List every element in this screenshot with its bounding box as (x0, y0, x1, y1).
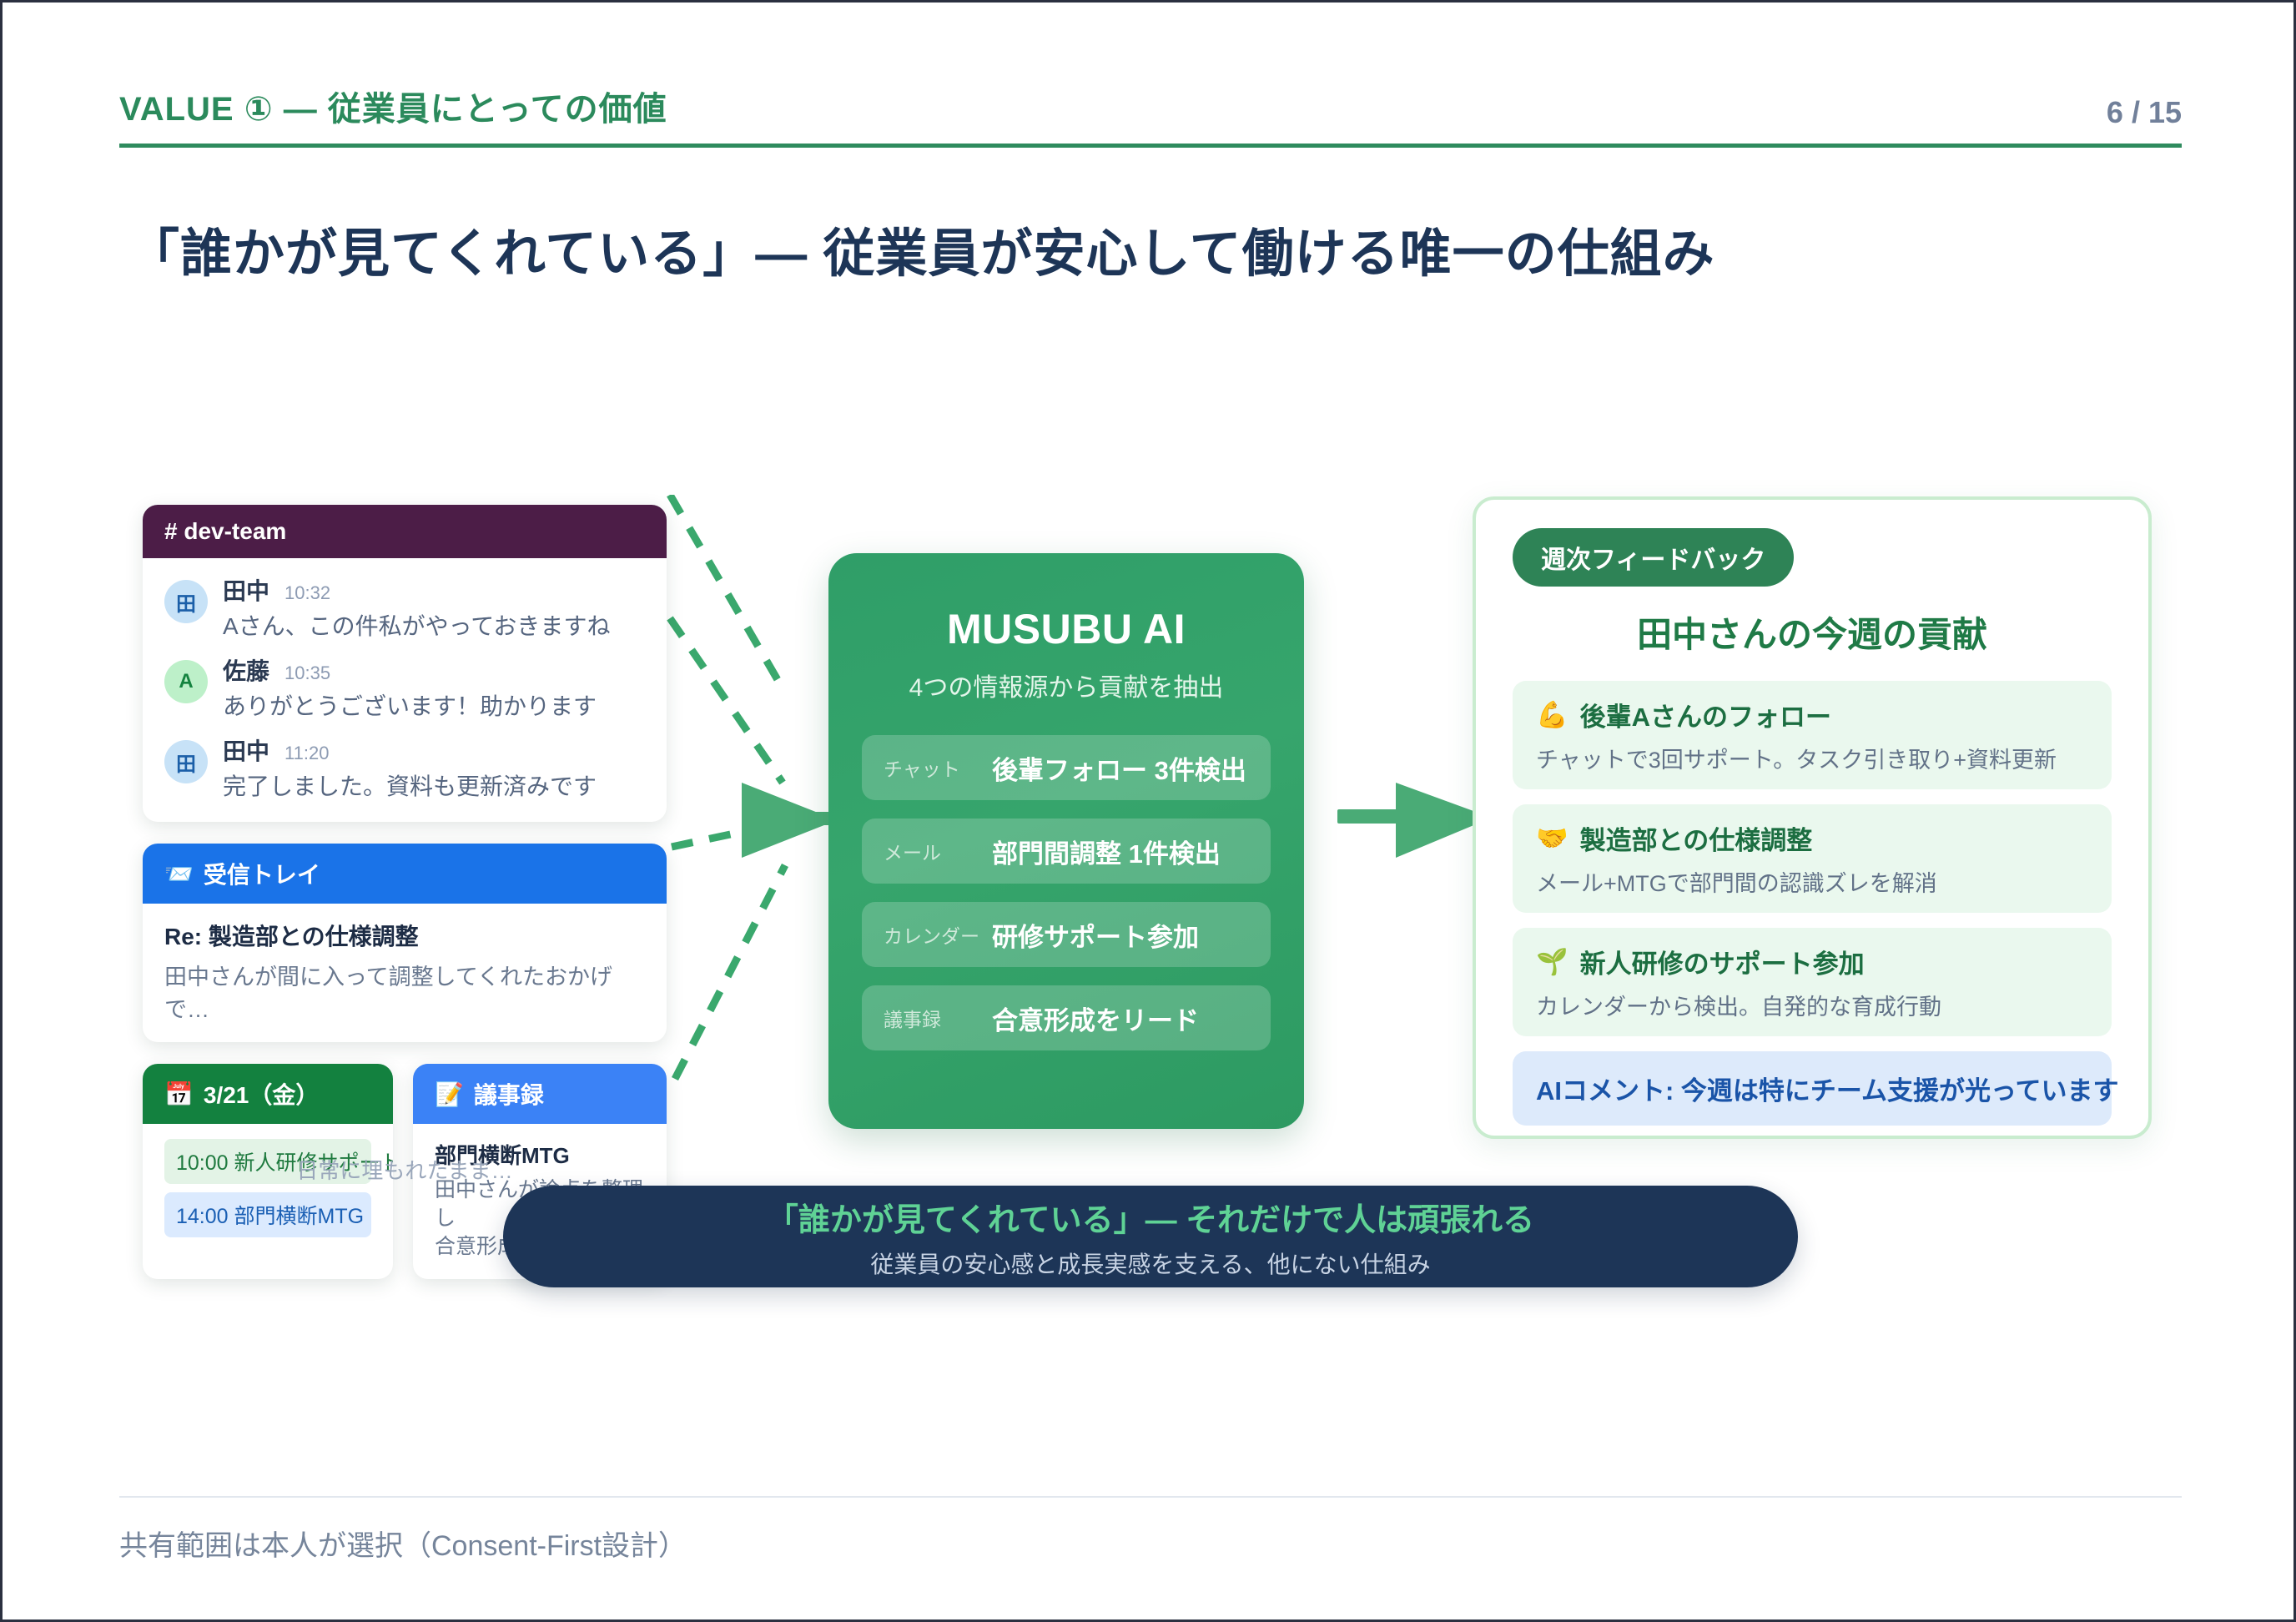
chat-timestamp: 11:20 (284, 743, 329, 764)
engine-row-label: メール (884, 837, 992, 865)
calendar-card-header: 📅 3/21（金） (143, 1064, 393, 1124)
contribution-description: チャットで3回サポート。タスク引き取り+資料更新 (1536, 742, 2088, 774)
memo-icon: 📝 (435, 1080, 464, 1108)
page-indicator: 6 / 15 (2107, 95, 2182, 130)
engine-row-value: 研修サポート参加 (992, 916, 1199, 954)
chat-channel-label: # dev-team (164, 518, 286, 545)
chat-body: ありがとうございます！助かります (223, 688, 597, 722)
engine-subtitle: 4つの情報源から貢献を抽出 (862, 667, 1271, 703)
footer-note: 共有範囲は本人が選択（Consent-First設計） (119, 1523, 687, 1564)
calendar-event-time: 14:00 (176, 1205, 229, 1228)
calendar-event-list: 10:00 新人研修サポート 14:00 部門横断MTG (143, 1124, 393, 1264)
mail-subject: Re: 製造部との仕様調整 (164, 919, 645, 952)
buried-note: 日常に埋もれたまま… (143, 1154, 667, 1185)
contribution-title: 後輩Aさんのフォロー (1580, 696, 1831, 733)
engine-title: MUSUBU AI (862, 605, 1271, 653)
engine-row-label: 議事録 (884, 1004, 992, 1032)
chat-author: 田中 (223, 573, 269, 607)
minutes-card-title: 議事録 (474, 1077, 544, 1111)
slide-root: VALUE ① ― 従業員にとっての価値 6 / 15 「誰かが見てくれている」… (0, 0, 2296, 1622)
calendar-date-label: 3/21（金） (204, 1077, 320, 1111)
mail-source-card[interactable]: 📨 受信トレイ Re: 製造部との仕様調整 田中さんが間に入って調整してくれたお… (143, 844, 667, 1042)
calendar-event: 14:00 部門横断MTG (164, 1192, 371, 1237)
chat-message-list: 田 田中 10:32 Aさん、この件私がやっておきますね A (143, 558, 667, 822)
handshake-icon: 🤝 (1536, 823, 1568, 854)
minutes-card-header: 📝 議事録 (413, 1064, 667, 1124)
avatar: 田 (164, 580, 208, 623)
header-eyebrow: VALUE ① ― 従業員にとっての価値 (119, 82, 667, 130)
engine-row-value: 部門間調整 1件検出 (992, 833, 1221, 870)
footer-divider (119, 1496, 2182, 1498)
diagram-stage: # dev-team 田 田中 10:32 Aさん、この件私がやっておきますね (3, 495, 2296, 1187)
chat-author: 佐藤 (223, 653, 269, 687)
ai-comment: AIコメント: 今週は特にチーム支援が光っています (1513, 1051, 2112, 1126)
mail-card-body: Re: 製造部との仕様調整 田中さんが間に入って調整してくれたおかげで… (143, 904, 667, 1042)
engine-row: メール 部門間調整 1件検出 (862, 819, 1271, 884)
chat-message: 田 田中 11:20 完了しました。資料も更新済みです (164, 733, 645, 802)
contribution-description: メール+MTGで部門間の認識ズレを解消 (1536, 865, 2088, 898)
contribution-heading: 🌱 新人研修のサポート参加 (1536, 943, 2088, 980)
contribution-item: 💪 後輩Aさんのフォロー チャットで3回サポート。タスク引き取り+資料更新 (1513, 681, 2112, 789)
contribution-heading: 🤝 製造部との仕様調整 (1536, 819, 2088, 857)
contribution-item: 🌱 新人研修のサポート参加 カレンダーから検出。自発的な育成行動 (1513, 928, 2112, 1036)
status-badge: 週次フィードバック (1513, 528, 1794, 587)
weekly-feedback-panel: 週次フィードバック 田中さんの今週の貢献 💪 後輩Aさんのフォロー チャットで3… (1473, 496, 2152, 1139)
contribution-heading: 💪 後輩Aさんのフォロー (1536, 696, 2088, 733)
mail-snippet: 田中さんが間に入って調整してくれたおかげで… (164, 959, 645, 1024)
arrow-to-feedback (1337, 783, 1492, 858)
contribution-description: カレンダーから検出。自発的な育成行動 (1536, 989, 2088, 1021)
engine-row-value: 後輩フォロー 3件検出 (992, 749, 1246, 787)
mail-card-header: 📨 受信トレイ (143, 844, 667, 904)
banner-subtext: 従業員の安心感と成長実感を支える、他にない仕組み (870, 1247, 1430, 1280)
engine-row-value: 合意形成をリード (992, 1000, 1199, 1037)
banner-headline: 「誰かが見てくれている」― それだけで人は頑張れる (767, 1194, 1534, 1240)
incoming-envelope-icon: 📨 (164, 860, 194, 888)
chat-body: Aさん、この件私がやっておきますね (223, 608, 610, 642)
contribution-item: 🤝 製造部との仕様調整 メール+MTGで部門間の認識ズレを解消 (1513, 804, 2112, 913)
chat-message-meta: 佐藤 10:35 (223, 653, 597, 687)
avatar: 田 (164, 740, 208, 783)
page-title: 「誰かが見てくれている」― 従業員が安心して働ける唯一の仕組み (128, 211, 1715, 286)
chat-message-meta: 田中 10:32 (223, 573, 610, 607)
chat-timestamp: 10:35 (284, 662, 330, 684)
chat-message: 田 田中 10:32 Aさん、この件私がやっておきますね (164, 573, 645, 642)
musubu-ai-panel: MUSUBU AI 4つの情報源から貢献を抽出 チャット 後輩フォロー 3件検出… (828, 553, 1304, 1129)
chat-source-card[interactable]: # dev-team 田 田中 10:32 Aさん、この件私がやっておきますね (143, 505, 667, 822)
chat-author: 田中 (223, 733, 269, 767)
engine-row-label: チャット (884, 753, 992, 782)
summary-banner: 「誰かが見てくれている」― それだけで人は頑張れる 従業員の安心感と成長実感を支… (503, 1186, 1798, 1287)
chat-message-meta: 田中 11:20 (223, 733, 597, 767)
slide-header: VALUE ① ― 従業員にとっての価値 6 / 15 (119, 82, 2182, 148)
calendar-event-label: 部門横断MTG (234, 1205, 365, 1228)
arrow-to-engine (742, 783, 838, 858)
engine-row-label: カレンダー (884, 920, 992, 949)
seedling-icon: 🌱 (1536, 946, 1568, 977)
chat-card-header: # dev-team (143, 505, 667, 558)
flexed-biceps-icon: 💪 (1536, 699, 1568, 730)
chat-timestamp: 10:32 (284, 582, 330, 604)
chat-body: 完了しました。資料も更新済みです (223, 768, 597, 802)
engine-row: 議事録 合意形成をリード (862, 985, 1271, 1050)
mail-card-title: 受信トレイ (204, 857, 320, 890)
contribution-title: 新人研修のサポート参加 (1580, 943, 1865, 980)
engine-row: チャット 後輩フォロー 3件検出 (862, 735, 1271, 800)
feedback-title: 田中さんの今週の貢献 (1513, 607, 2112, 657)
avatar: A (164, 660, 208, 703)
chat-message: A 佐藤 10:35 ありがとうございます！助かります (164, 653, 645, 722)
calendar-icon: 📅 (164, 1080, 194, 1108)
engine-row: カレンダー 研修サポート参加 (862, 902, 1271, 967)
contribution-title: 製造部との仕様調整 (1580, 819, 1813, 857)
